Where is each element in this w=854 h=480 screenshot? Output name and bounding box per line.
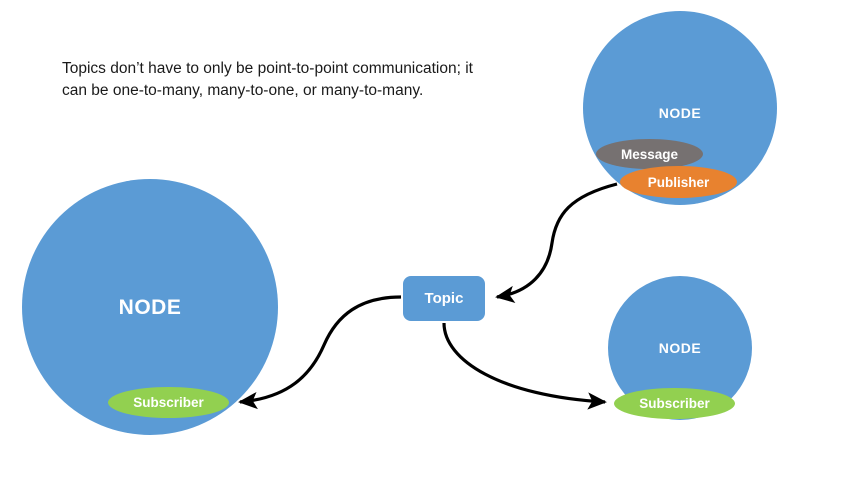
message-ellipse-top-right[interactable]: Message (596, 139, 703, 169)
publisher-ellipse-top-right[interactable]: Publisher (620, 166, 737, 198)
node-top-right-label: NODE (583, 105, 777, 121)
caption-text: Topics don’t have to only be point-to-po… (62, 58, 482, 103)
connector-topic-to-subscriber-bottom-right (444, 323, 605, 402)
node-left-label: NODE (22, 296, 278, 320)
diagram-canvas: Topics don’t have to only be point-to-po… (0, 0, 854, 480)
connector-publisher-to-topic (497, 184, 617, 297)
subscriber-ellipse-left[interactable]: Subscriber (108, 387, 229, 418)
topic-box[interactable]: Topic (403, 276, 485, 321)
subscriber-ellipse-bottom-right[interactable]: Subscriber (614, 388, 735, 419)
node-bottom-right-label: NODE (608, 340, 752, 356)
